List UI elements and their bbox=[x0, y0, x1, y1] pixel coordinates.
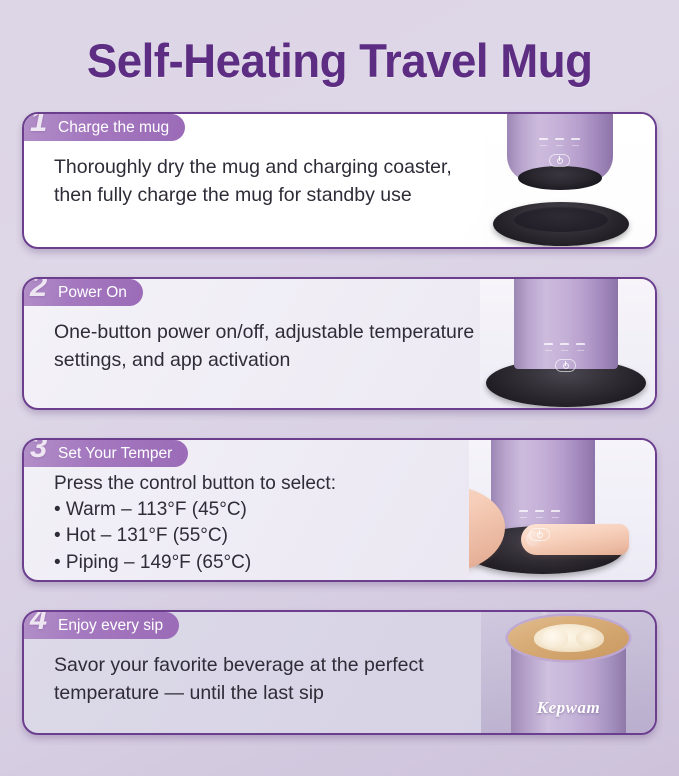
indicator-hot-icon bbox=[555, 138, 564, 146]
step-4-label: Enjoy every sip bbox=[58, 617, 163, 635]
step-4-body: Savor your favorite beverage at the perf… bbox=[54, 652, 473, 707]
step-1-line-1: Thoroughly dry the mug and charging coas… bbox=[54, 154, 475, 182]
power-glyph bbox=[563, 363, 569, 369]
temperature-option-piping: • Piping – 149°F (65°C) bbox=[54, 550, 461, 576]
mug-bottom-disc bbox=[518, 166, 602, 190]
step-2-badge: 2 Power On bbox=[24, 279, 143, 306]
step-3-text-panel: 3 Set Your Temper Press the control butt… bbox=[24, 440, 469, 580]
step-3-badge: 3 Set Your Temper bbox=[24, 440, 188, 467]
indicator-hot-icon bbox=[560, 343, 569, 351]
step-2-number: 2 bbox=[30, 277, 47, 301]
step-2-image-panel bbox=[480, 279, 655, 408]
latte-foam-rosetta bbox=[534, 624, 604, 652]
step-card-4: 4 Enjoy every sip Savor your favorite be… bbox=[22, 610, 657, 735]
step-3-number: 3 bbox=[30, 438, 47, 462]
step-3-line-1: Press the control button to select: bbox=[54, 471, 461, 497]
power-icon[interactable] bbox=[549, 154, 570, 167]
step-1-label: Charge the mug bbox=[58, 119, 169, 137]
step-2-line-1: One-button power on/off, adjustable temp… bbox=[54, 319, 472, 347]
steps-list: 1 Charge the mug Thoroughly dry the mug … bbox=[0, 112, 679, 735]
step-1-number: 1 bbox=[30, 112, 47, 136]
hand-pressing-control-button-photo bbox=[469, 440, 655, 580]
temperature-indicator-icons-front bbox=[544, 343, 585, 351]
step-4-image-panel: Kepwam bbox=[481, 612, 655, 733]
power-icon[interactable] bbox=[529, 528, 550, 541]
step-4-number: 4 bbox=[30, 610, 47, 634]
step-4-line-2: temperature — until the last sip bbox=[54, 680, 473, 708]
step-3-body: Press the control button to select: • Wa… bbox=[54, 471, 461, 576]
step-4-line-1: Savor your favorite beverage at the perf… bbox=[54, 652, 473, 680]
temperature-indicator-icons bbox=[519, 510, 560, 518]
step-1-body: Thoroughly dry the mug and charging coas… bbox=[54, 154, 475, 209]
temperature-option-hot: • Hot – 131°F (55°C) bbox=[54, 523, 461, 549]
mug-with-latte-art-photo: Kepwam bbox=[481, 612, 655, 733]
charging-coaster-inner-ring bbox=[513, 206, 609, 232]
page-title: Self-Heating Travel Mug bbox=[87, 33, 593, 88]
temperature-indicator-icons bbox=[539, 138, 580, 146]
indicator-piping-icon bbox=[571, 138, 580, 146]
power-icon-front[interactable] bbox=[555, 359, 576, 372]
latte-art-surface bbox=[508, 616, 629, 660]
temperature-option-warm: • Warm – 113°F (45°C) bbox=[54, 497, 461, 523]
power-glyph bbox=[537, 532, 543, 538]
indicator-piping-icon bbox=[576, 343, 585, 351]
step-1-badge: 1 Charge the mug bbox=[24, 114, 185, 141]
power-glyph bbox=[557, 158, 563, 164]
step-3-image-panel bbox=[469, 440, 655, 580]
step-2-line-2: settings, and app activation bbox=[54, 347, 472, 375]
brand-logo-text: Kepwam bbox=[511, 698, 626, 718]
indicator-warm-icon bbox=[539, 138, 548, 146]
step-card-2: 2 Power On One-button power on/off, adju… bbox=[22, 277, 657, 410]
mug-seated-on-coaster-photo bbox=[480, 279, 655, 408]
indicator-warm-icon bbox=[544, 343, 553, 351]
step-1-line-2: then fully charge the mug for standby us… bbox=[54, 182, 475, 210]
indicator-piping-icon bbox=[551, 510, 560, 518]
step-2-body: One-button power on/off, adjustable temp… bbox=[54, 319, 472, 374]
page-header: Self-Heating Travel Mug bbox=[0, 0, 679, 112]
step-3-label: Set Your Temper bbox=[58, 445, 172, 463]
step-card-3: 3 Set Your Temper Press the control butt… bbox=[22, 438, 657, 582]
step-card-1: 1 Charge the mug Thoroughly dry the mug … bbox=[22, 112, 657, 249]
step-4-text-panel: 4 Enjoy every sip Savor your favorite be… bbox=[24, 612, 481, 733]
step-1-text-panel: 1 Charge the mug Thoroughly dry the mug … bbox=[24, 114, 483, 247]
mug-above-charging-coaster-photo bbox=[483, 114, 655, 247]
step-4-badge: 4 Enjoy every sip bbox=[24, 612, 179, 639]
indicator-hot-icon bbox=[535, 510, 544, 518]
step-1-image-panel bbox=[483, 114, 655, 247]
step-2-text-panel: 2 Power On One-button power on/off, adju… bbox=[24, 279, 480, 408]
step-2-label: Power On bbox=[58, 284, 127, 302]
latte-mug-body: Kepwam bbox=[511, 626, 626, 733]
indicator-warm-icon bbox=[519, 510, 528, 518]
mug-body-front-overlap bbox=[514, 279, 618, 369]
